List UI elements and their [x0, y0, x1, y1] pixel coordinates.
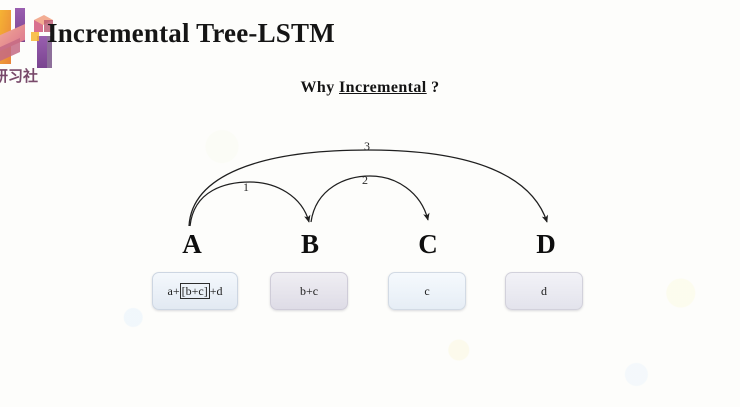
- expression-box-a: a+[b+c]+d: [152, 272, 238, 310]
- node-label-d: D: [526, 229, 566, 260]
- expr-a-bracketed: [b+c]: [180, 283, 210, 299]
- dependency-arc-diagram: [0, 0, 740, 407]
- expression-box-c: c: [388, 272, 466, 310]
- heading-emphasis: Incremental: [339, 79, 427, 96]
- expression-box-b: b+c: [270, 272, 348, 310]
- node-label-b: B: [290, 229, 330, 260]
- slide-canvas: 川研习社 Incremental Tree-LSTM Why Increment…: [0, 0, 740, 407]
- expression-text-a: a+[b+c]+d: [168, 284, 223, 299]
- section-heading: Why Incremental ?: [0, 79, 740, 97]
- heading-prefix: Why: [301, 79, 340, 96]
- expression-text-d: d: [541, 284, 547, 299]
- node-label-a: A: [172, 229, 212, 260]
- arc-label-1: 1: [236, 180, 256, 195]
- heading-suffix: ?: [427, 79, 440, 96]
- expr-a-prefix: a+: [168, 284, 180, 298]
- arc-svg: [0, 0, 740, 407]
- page-title: Incremental Tree-LSTM: [47, 18, 335, 49]
- expr-a-suffix: +d: [210, 284, 223, 298]
- node-label-c: C: [408, 229, 448, 260]
- arc-label-2: 2: [355, 173, 375, 188]
- expression-text-b: b+c: [300, 284, 318, 299]
- expression-box-d: d: [505, 272, 583, 310]
- expression-text-c: c: [424, 284, 429, 299]
- arc-label-3: 3: [357, 139, 377, 154]
